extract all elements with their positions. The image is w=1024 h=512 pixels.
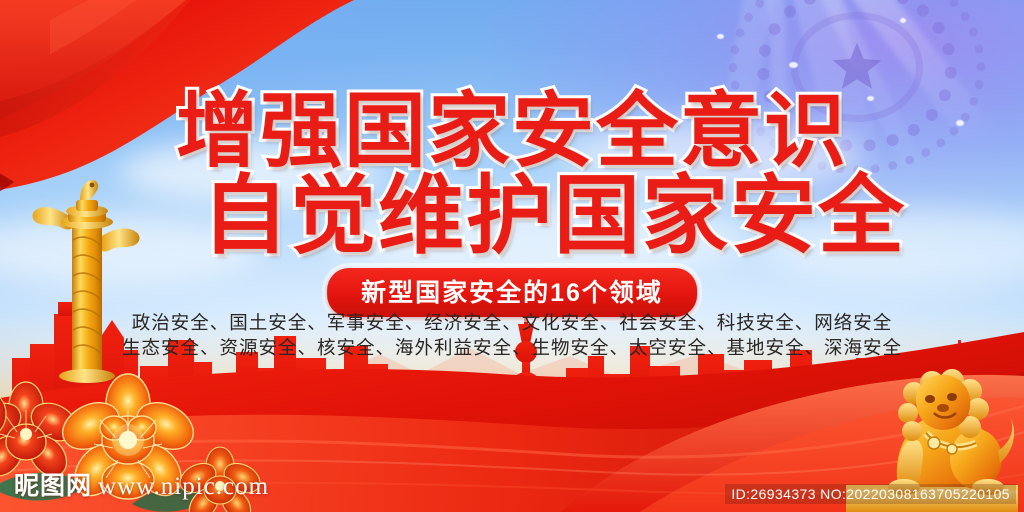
security-domains-list: 政治安全、国土安全、军事安全、经济安全、文化安全、社会安全、科技安全、网络安全 … — [0, 310, 1024, 360]
site-url: www.nipic.com — [98, 473, 269, 501]
poster-canvas: 增强国家安全意识 自觉维护国家安全 新型国家安全的16个领域 政治安全、国土安全… — [0, 0, 1024, 512]
site-watermark: 昵图网 www.nipic.com — [14, 466, 269, 502]
security-domains-line-2: 生态安全、资源安全、核安全、海外利益安全、生物安全、太空安全、基地安全、深海安全 — [0, 335, 1024, 360]
poster-title-line-2: 自觉维护国家安全 — [0, 166, 1024, 266]
image-id-watermark: ID:26934373 NO:20220308163705220105 — [725, 484, 1016, 504]
security-domains-line-1: 政治安全、国土安全、军事安全、经济安全、文化安全、社会安全、科技安全、网络安全 — [0, 310, 1024, 335]
site-name-cn: 昵图网 — [14, 466, 92, 502]
text-content: 增强国家安全意识 自觉维护国家安全 新型国家安全的16个领域 政治安全、国土安全… — [0, 0, 1024, 512]
